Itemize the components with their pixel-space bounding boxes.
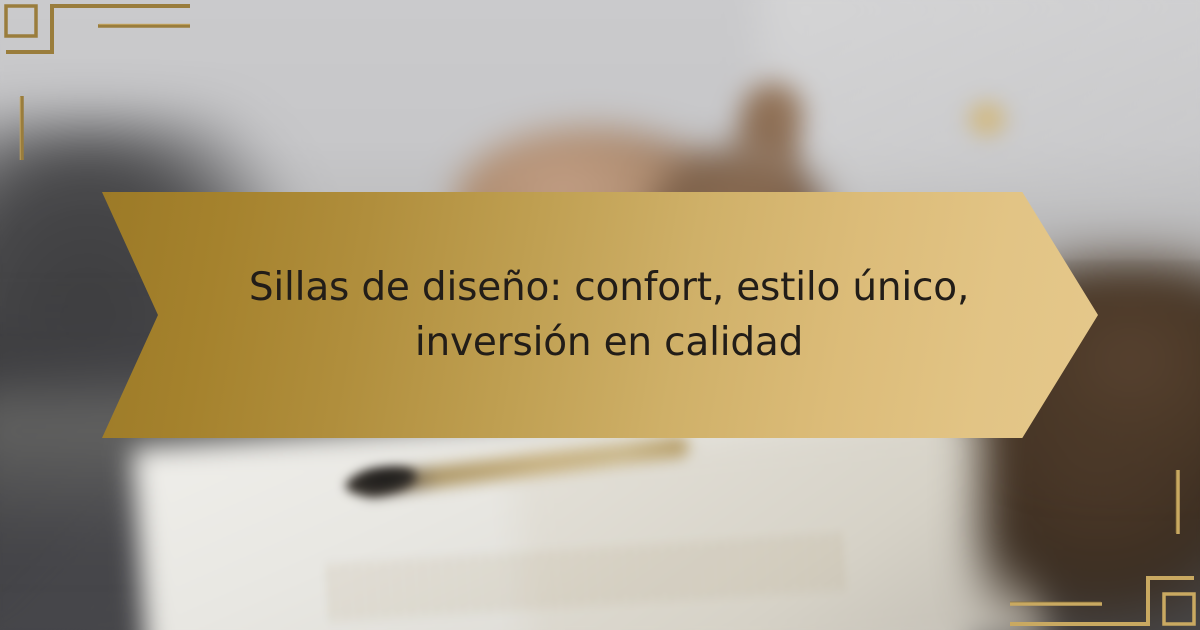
title-banner-content: Sillas de diseño: confort, estilo único,… [189, 260, 1029, 371]
title-banner: Sillas de diseño: confort, estilo único,… [102, 192, 1098, 438]
social-card: Sillas de diseño: confort, estilo único,… [0, 0, 1200, 630]
background-light-spot [963, 98, 1011, 140]
page-title: Sillas de diseño: confort, estilo único,… [189, 260, 1029, 371]
